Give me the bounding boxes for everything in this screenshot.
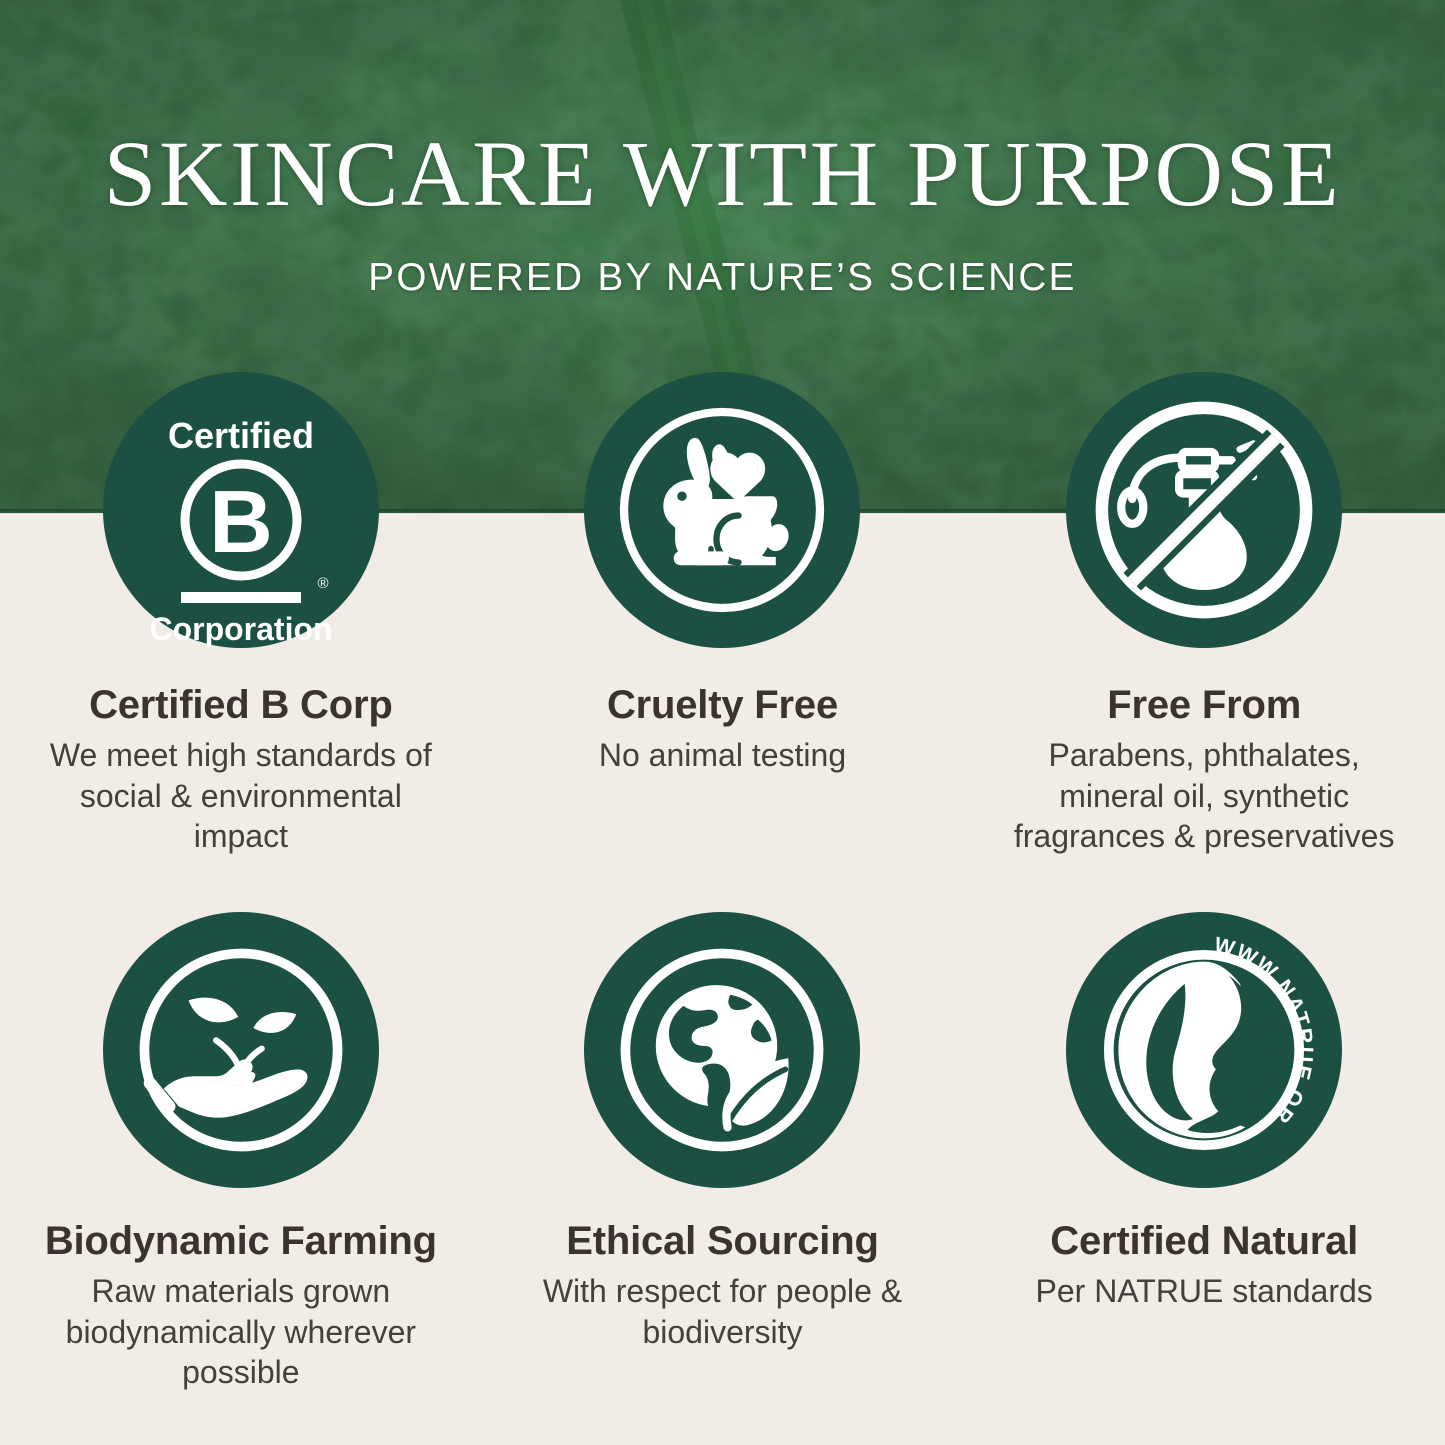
badge-description: With respect for people & biodiversity bbox=[522, 1271, 922, 1352]
badge-description: Parabens, phthalates, mineral oil, synth… bbox=[1004, 735, 1404, 856]
page-subtitle: POWERED BY NATURE’S SCIENCE bbox=[7, 258, 1438, 297]
b-corp-letter: B bbox=[209, 472, 273, 571]
b-corp-badge-circle: Certified B ® Corporation bbox=[103, 372, 379, 648]
badge-title: Cruelty Free bbox=[607, 684, 838, 727]
badge-description: Raw materials grown biodynamically where… bbox=[41, 1271, 441, 1392]
badge-title: Biodynamic Farming bbox=[45, 1220, 437, 1263]
hand-holding-seedling-icon bbox=[103, 912, 379, 1188]
badge-cell-cruelty-free: Cruelty Free No animal testing bbox=[482, 372, 964, 856]
badge-cell-free-from: Free From Parabens, phthalates, mineral … bbox=[963, 372, 1445, 856]
b-corp-certified-icon: Certified B ® Corporation bbox=[103, 372, 379, 648]
badge-title: Certified B Corp bbox=[89, 684, 392, 727]
b-corp-bottom-label: Corporation bbox=[149, 611, 332, 647]
globe-leaf-icon bbox=[584, 912, 860, 1188]
badge-title: Free From bbox=[1107, 684, 1301, 727]
badge-cell-certified-natural: WWW.NATRUE.ORG Certified Natural Per NAT… bbox=[963, 912, 1445, 1392]
natrue-badge-circle: WWW.NATRUE.ORG bbox=[1066, 912, 1342, 1188]
badge-cell-biodynamic-farming: Biodynamic Farming Raw materials grown b… bbox=[0, 912, 482, 1392]
badge-description: Per NATRUE standards bbox=[1036, 1271, 1373, 1311]
badge-title: Certified Natural bbox=[1050, 1220, 1358, 1263]
page-title: SKINCARE WITH PURPOSE bbox=[0, 128, 1445, 221]
badge-title: Ethical Sourcing bbox=[566, 1220, 878, 1263]
badge-cell-b-corp: Certified B ® Corporation Certified B Co… bbox=[0, 372, 482, 856]
rabbit-heart-icon bbox=[584, 372, 860, 648]
no-spray-bottle-icon bbox=[1066, 372, 1342, 648]
b-corp-top-label: Certified bbox=[168, 415, 314, 456]
infographic-root: SKINCARE WITH PURPOSE POWERED BY NATURE’… bbox=[0, 0, 1445, 1445]
cruelty-free-badge-circle bbox=[584, 372, 860, 648]
biodynamic-badge-circle bbox=[103, 912, 379, 1188]
b-corp-registered-mark: ® bbox=[317, 575, 328, 592]
free-from-badge-circle bbox=[1066, 372, 1342, 648]
badge-description: We meet high standards of social & envir… bbox=[41, 735, 441, 856]
badge-grid: Certified B ® Corporation Certified B Co… bbox=[0, 372, 1445, 1392]
natrue-face-leaf-icon: WWW.NATRUE.ORG bbox=[1066, 912, 1342, 1188]
ethical-sourcing-badge-circle bbox=[584, 912, 860, 1188]
badge-description: No animal testing bbox=[599, 735, 846, 775]
badge-cell-ethical-sourcing: Ethical Sourcing With respect for people… bbox=[482, 912, 964, 1392]
